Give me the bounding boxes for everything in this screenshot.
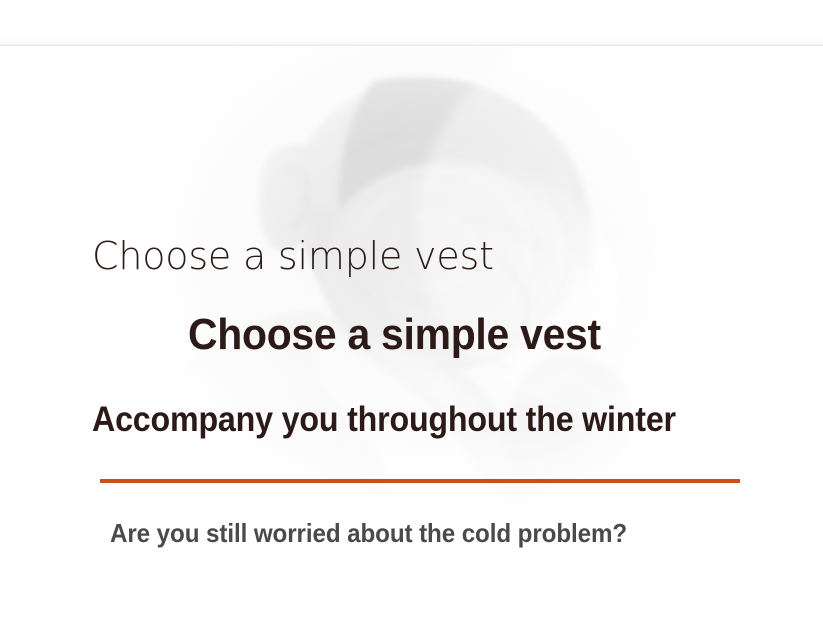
tagline-question: Are you still worried about the cold pro… <box>110 516 627 550</box>
accent-divider-rule <box>100 479 740 483</box>
top-divider <box>0 44 823 46</box>
promo-banner-page: Choose a simple vest Choose a simple ves… <box>0 0 823 618</box>
subheadline: Accompany you throughout the winter <box>92 398 676 442</box>
headline-bold: Choose a simple vest <box>188 308 601 362</box>
watermark-portrait-image <box>168 45 698 535</box>
headline-light: Choose a simple vest <box>92 233 494 279</box>
